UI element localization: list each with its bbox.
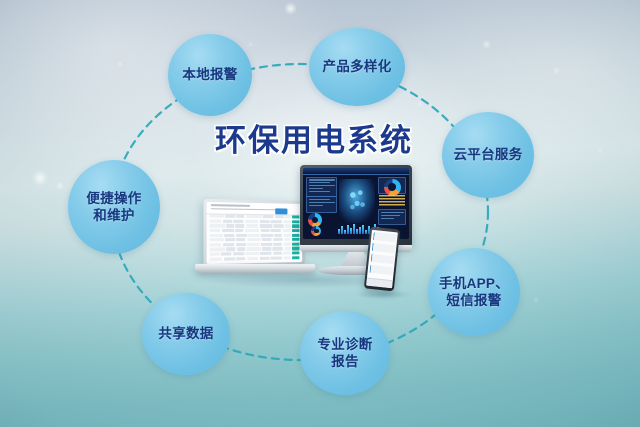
feature-bubble-label-line: 手机APP、 (435, 275, 513, 292)
feature-bubble-label: 便捷操作和维护 (82, 190, 145, 225)
table-cell (247, 257, 258, 260)
table-cell (273, 252, 281, 255)
table-row (210, 214, 300, 218)
table-cell (237, 215, 245, 218)
table-cell (210, 229, 220, 232)
table-row (210, 229, 300, 232)
feature-bubble-label: 手机APP、短信报警 (435, 275, 513, 310)
dashboard-bar (344, 230, 346, 234)
table-cell (233, 252, 244, 255)
table-cell (292, 229, 299, 232)
table-cell (261, 243, 272, 246)
laptop-screen (207, 202, 303, 264)
table-row (210, 256, 300, 261)
table-cell (259, 257, 269, 260)
table-cell (270, 220, 282, 223)
table-cell (223, 243, 235, 246)
table-cell (210, 253, 220, 257)
dashboard-bar (353, 224, 355, 234)
phone-list-item (371, 243, 395, 253)
table-cell (284, 238, 290, 241)
dashboard-kpi-panel (306, 177, 337, 197)
table-cell (246, 215, 261, 218)
table-cell (247, 238, 261, 241)
table-cell (274, 224, 284, 227)
dashboard-donut-chart-3 (311, 226, 321, 236)
table-cell (262, 247, 271, 250)
phone-list-item (369, 265, 393, 275)
table-cell (225, 238, 234, 241)
table-cell (292, 225, 299, 228)
table-cell (210, 214, 224, 218)
table-cell (236, 234, 247, 237)
dashboard-bar (350, 228, 352, 234)
table-cell (259, 224, 272, 227)
table-cell (274, 234, 282, 237)
dashboard-donut-chart (384, 179, 401, 196)
table-cell (245, 252, 258, 255)
dashboard-bar (356, 229, 358, 234)
table-cell (262, 238, 272, 241)
dashboard-alert-strip (379, 195, 404, 206)
table-cell (259, 220, 269, 223)
feature-bubble-label-line: 短信报警 (435, 292, 513, 309)
phone-bottom-nav (366, 278, 393, 289)
table-row (210, 238, 300, 242)
table-cell (223, 219, 232, 222)
dashboard-side-panel (378, 209, 405, 225)
table-row (210, 219, 300, 223)
table-cell (273, 243, 282, 246)
table-cell (292, 247, 299, 250)
feature-bubble-label-line: 产品多样化 (319, 58, 396, 75)
table-cell (292, 252, 299, 255)
table-cell (272, 247, 283, 250)
table-cell (225, 215, 235, 218)
table-cell (210, 248, 225, 252)
china-heat-map (339, 179, 375, 223)
table-row (210, 234, 300, 237)
dashboard-bar (341, 226, 343, 234)
feature-bubble-local-alarm[interactable]: 本地报警 (168, 34, 252, 116)
dashboard-list-panel (306, 196, 337, 212)
table-cell (246, 247, 261, 250)
table-cell (236, 229, 244, 232)
feature-bubble-diagnostic-report[interactable]: 专业诊断报告 (300, 311, 390, 395)
phone-list-item (370, 254, 394, 264)
table-cell (261, 234, 273, 237)
feature-bubble-label-line: 便捷操作 (82, 190, 145, 207)
table-cell (237, 257, 246, 260)
table-cell (292, 215, 299, 218)
table-cell (271, 229, 282, 232)
table-cell (282, 229, 290, 232)
dashboard-bar (347, 225, 349, 234)
table-cell (292, 243, 299, 246)
dashboard-header-bar (303, 168, 409, 175)
table-cell (236, 224, 245, 227)
table-cell (283, 234, 290, 237)
feature-bubble-label: 产品多样化 (319, 58, 396, 75)
table-cell (236, 238, 245, 241)
table-cell (275, 215, 283, 218)
feature-bubble-cloud-service[interactable]: 云平台服务 (442, 112, 534, 198)
data-table-grid (210, 214, 300, 261)
dashboard-donut-chart-2 (308, 213, 322, 227)
table-cell (210, 234, 223, 237)
table-cell (226, 248, 235, 251)
feature-bubble-app-sms-alarm[interactable]: 手机APP、短信报警 (428, 248, 520, 336)
table-cell (226, 224, 234, 227)
table-cell (261, 229, 270, 232)
table-cell (285, 224, 291, 227)
table-cell (236, 243, 246, 246)
table-cell (283, 243, 290, 246)
table-cell (247, 243, 259, 246)
phone-screen (366, 230, 398, 288)
phone-ground-shadow (356, 290, 412, 299)
feature-bubble-label-line: 云平台服务 (450, 146, 527, 163)
table-row (210, 224, 300, 228)
table-cell (210, 257, 223, 261)
table-cell (224, 234, 234, 237)
table-cell (285, 215, 291, 218)
dashboard-bar (338, 229, 340, 234)
table-cell (233, 219, 243, 222)
feature-bubble-label: 共享数据 (154, 325, 217, 342)
table-cell (210, 243, 222, 246)
table-cell (270, 256, 282, 259)
table-cell (237, 248, 245, 251)
laptop (203, 199, 304, 268)
table-cell (292, 220, 299, 223)
table-row (210, 247, 300, 251)
feature-bubble-label-line: 本地报警 (178, 66, 241, 83)
table-cell (263, 215, 274, 218)
table-cell (292, 256, 299, 259)
feature-bubble-product-variety[interactable]: 产品多样化 (309, 28, 405, 106)
table-cell (210, 219, 222, 222)
table-cell (210, 238, 224, 241)
table-cell (260, 252, 272, 255)
table-row (210, 243, 300, 247)
table-cell (292, 238, 299, 241)
table-cell (284, 220, 291, 223)
dashboard-bar (365, 230, 367, 234)
table-cell (245, 229, 259, 232)
table-cell (284, 256, 291, 259)
table-cell (273, 238, 283, 241)
feature-bubble-label-line: 报告 (313, 353, 376, 370)
table-action-badge (276, 209, 288, 215)
feature-bubble-label: 本地报警 (178, 66, 241, 83)
dashboard-bar (359, 227, 361, 234)
feature-bubble-label: 云平台服务 (450, 146, 527, 163)
table-cell (246, 224, 258, 227)
feature-bubble-label-line: 和维护 (82, 207, 145, 224)
table-cell (284, 247, 290, 250)
table-cell (210, 224, 225, 227)
table-cell (224, 257, 235, 261)
poster-canvas: 环保用电系统 (0, 0, 640, 427)
feature-bubble-label-line: 专业诊断 (313, 336, 376, 353)
phone-list-item (372, 232, 396, 242)
table-cell (292, 234, 299, 237)
table-cell (221, 252, 231, 255)
laptop-keyboard-base (195, 264, 315, 273)
dashboard-bar (362, 225, 364, 234)
table-cell (245, 220, 258, 223)
table-toolbar (207, 202, 303, 215)
feature-bubble-label: 专业诊断报告 (313, 336, 376, 371)
table-cell (249, 234, 260, 237)
table-cell (283, 252, 291, 255)
feature-bubble-label-line: 共享数据 (154, 325, 217, 342)
feature-bubble-easy-operation[interactable]: 便捷操作和维护 (68, 160, 160, 254)
table-cell (222, 229, 235, 232)
feature-bubble-shared-data[interactable]: 共享数据 (142, 293, 230, 375)
